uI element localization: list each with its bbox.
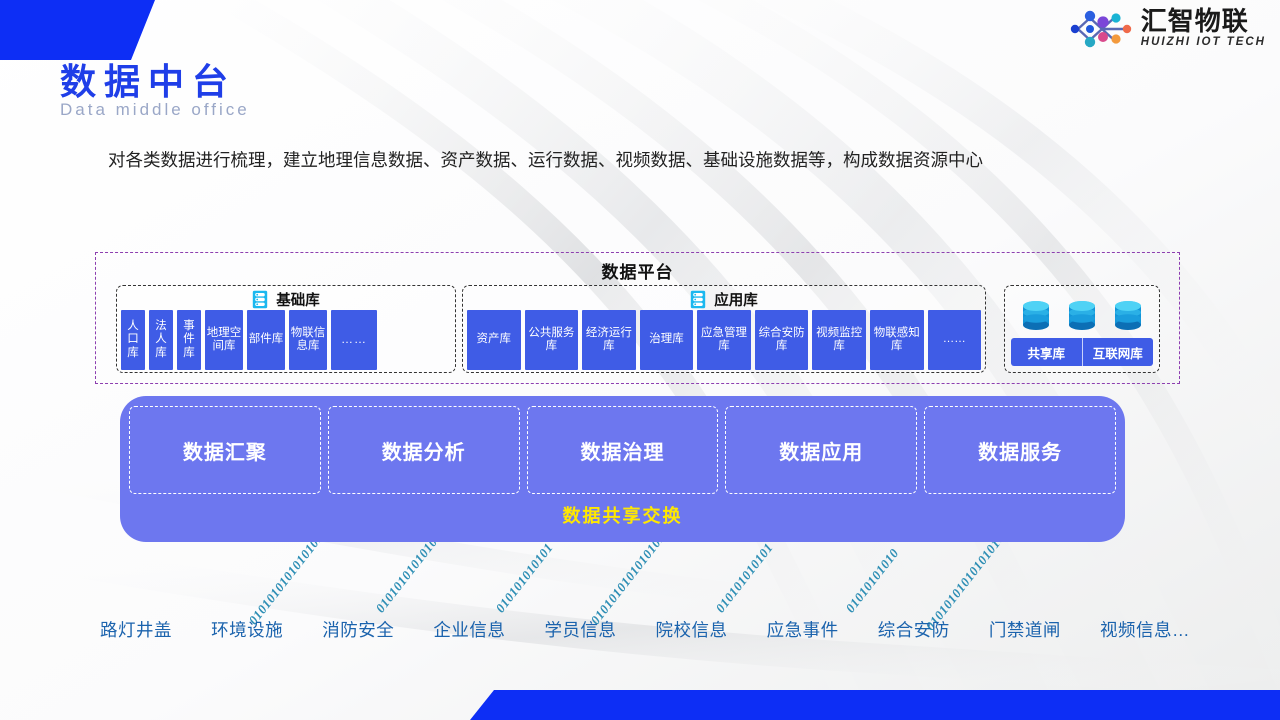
application-library-item[interactable]: 经济运行库 <box>582 310 636 370</box>
basic-library-item[interactable]: 物联信息库 <box>289 310 327 370</box>
data-function-item[interactable]: 数据分析 <box>328 406 520 494</box>
application-library-title: 应用库 <box>714 289 758 310</box>
data-source-tag[interactable]: 院校信息 <box>656 617 728 642</box>
data-source-tag[interactable]: 综合安防 <box>878 617 950 642</box>
corner-accent-bottom-right <box>470 690 1280 720</box>
data-functions-panel: 数据汇聚数据分析数据治理数据应用数据服务 数据共享交换 <box>120 396 1125 542</box>
basic-library-items: 人口库法人库事件库地理空间库部件库物联信息库…… <box>121 310 451 370</box>
data-platform-title: 数据平台 <box>96 258 1179 283</box>
basic-library-item[interactable]: 地理空间库 <box>205 310 243 370</box>
data-function-item[interactable]: 数据服务 <box>924 406 1116 494</box>
database-cylinder-icon <box>1019 299 1053 333</box>
shared-database-label[interactable]: 共享库 <box>1011 338 1082 366</box>
data-source-tag[interactable]: 环境设施 <box>211 617 283 642</box>
basic-library-item[interactable]: 事件库 <box>177 310 201 370</box>
shared-database-labels: 共享库互联网库 <box>1011 338 1153 366</box>
basic-library-item[interactable]: 法人库 <box>149 310 173 370</box>
logo-company-name-cn: 汇智物联 <box>1141 8 1249 35</box>
data-function-item[interactable]: 数据治理 <box>527 406 719 494</box>
application-library-item[interactable]: 公共服务库 <box>525 310 579 370</box>
shared-database-label[interactable]: 互联网库 <box>1082 338 1154 366</box>
data-source-tag[interactable]: 企业信息 <box>433 617 505 642</box>
data-platform-panel: 数据平台 基础库 人口库法人库事件库地理空间库部件库物联信息库…… <box>95 252 1180 384</box>
brand-logo: 汇智物联 HUIZHI IOT TECH <box>1068 8 1266 50</box>
database-cylinder-icon <box>1065 299 1099 333</box>
basic-library-header: 基础库 <box>117 289 455 310</box>
application-library-item[interactable]: 治理库 <box>640 310 694 370</box>
basic-library-item[interactable]: 部件库 <box>247 310 285 370</box>
page-description: 对各类数据进行梳理，建立地理信息数据、资产数据、运行数据、视频数据、基础设施数据… <box>108 139 1178 182</box>
data-source-tag[interactable]: 路灯井盖 <box>100 617 172 642</box>
basic-library-item[interactable]: …… <box>331 310 377 370</box>
data-source-tag[interactable]: 消防安全 <box>322 617 394 642</box>
page-subtitle: Data middle office <box>60 101 250 120</box>
application-library-item[interactable]: …… <box>928 310 982 370</box>
molecule-network-icon <box>1068 8 1134 50</box>
database-cylinder-icon <box>1111 299 1145 333</box>
application-library-item[interactable]: 视频监控库 <box>812 310 866 370</box>
basic-library-item[interactable]: 人口库 <box>121 310 145 370</box>
page-title: 数据中台 <box>60 62 250 102</box>
data-source-tag[interactable]: 学员信息 <box>544 617 616 642</box>
data-source-tag[interactable]: 视频信息… <box>1100 617 1190 642</box>
database-stack-icon <box>690 290 706 309</box>
application-library-item[interactable]: 资产库 <box>467 310 521 370</box>
data-source-tag[interactable]: 应急事件 <box>767 617 839 642</box>
basic-library-box: 基础库 人口库法人库事件库地理空间库部件库物联信息库…… <box>116 285 456 373</box>
basic-library-title: 基础库 <box>276 289 320 310</box>
logo-company-name-en: HUIZHI IOT TECH <box>1141 35 1266 50</box>
page-title-block: 数据中台 Data middle office <box>60 62 250 120</box>
data-source-tags: 路灯井盖环境设施消防安全企业信息学员信息院校信息应急事件综合安防门禁道闸视频信息… <box>100 617 1190 642</box>
application-library-items: 资产库公共服务库经济运行库治理库应急管理库综合安防库视频监控库物联感知库…… <box>467 310 981 370</box>
database-stack-icon <box>252 290 268 309</box>
database-cylinder-row <box>1013 294 1151 338</box>
shared-database-box: 共享库互联网库 <box>1004 285 1160 373</box>
application-library-item[interactable]: 综合安防库 <box>755 310 809 370</box>
data-function-item[interactable]: 数据应用 <box>725 406 917 494</box>
application-library-item[interactable]: 应急管理库 <box>697 310 751 370</box>
data-function-item[interactable]: 数据汇聚 <box>129 406 321 494</box>
application-library-box: 应用库 资产库公共服务库经济运行库治理库应急管理库综合安防库视频监控库物联感知库… <box>462 285 986 373</box>
application-library-header: 应用库 <box>463 289 985 310</box>
application-library-item[interactable]: 物联感知库 <box>870 310 924 370</box>
data-functions-row: 数据汇聚数据分析数据治理数据应用数据服务 <box>129 406 1116 494</box>
data-sharing-exchange-label: 数据共享交换 <box>120 502 1125 528</box>
data-source-tag[interactable]: 门禁道闸 <box>989 617 1061 642</box>
